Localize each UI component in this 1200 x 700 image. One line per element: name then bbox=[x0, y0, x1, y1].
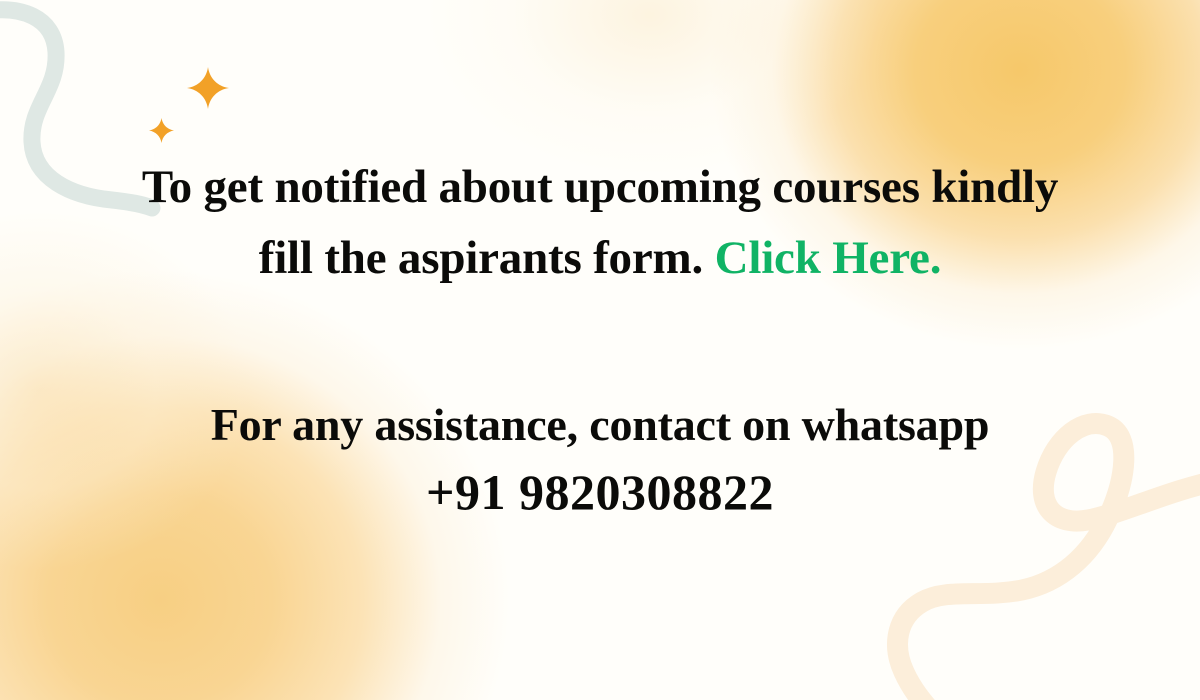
click-here-link[interactable]: Click Here. bbox=[715, 232, 942, 284]
whatsapp-phone-number[interactable]: +91 9820308822 bbox=[55, 459, 1145, 526]
notice-line-1: To get notified about upcoming courses k… bbox=[142, 161, 1058, 213]
notice-headline: To get notified about upcoming courses k… bbox=[55, 152, 1145, 293]
banner-content: To get notified about upcoming courses k… bbox=[0, 0, 1200, 700]
support-headline: For any assistance, contact on whatsapp … bbox=[55, 390, 1145, 526]
announcement-banner: To get notified about upcoming courses k… bbox=[0, 0, 1200, 700]
notice-line-2: fill the aspirants form. bbox=[259, 232, 703, 284]
support-line-1: For any assistance, contact on whatsapp bbox=[211, 399, 990, 450]
